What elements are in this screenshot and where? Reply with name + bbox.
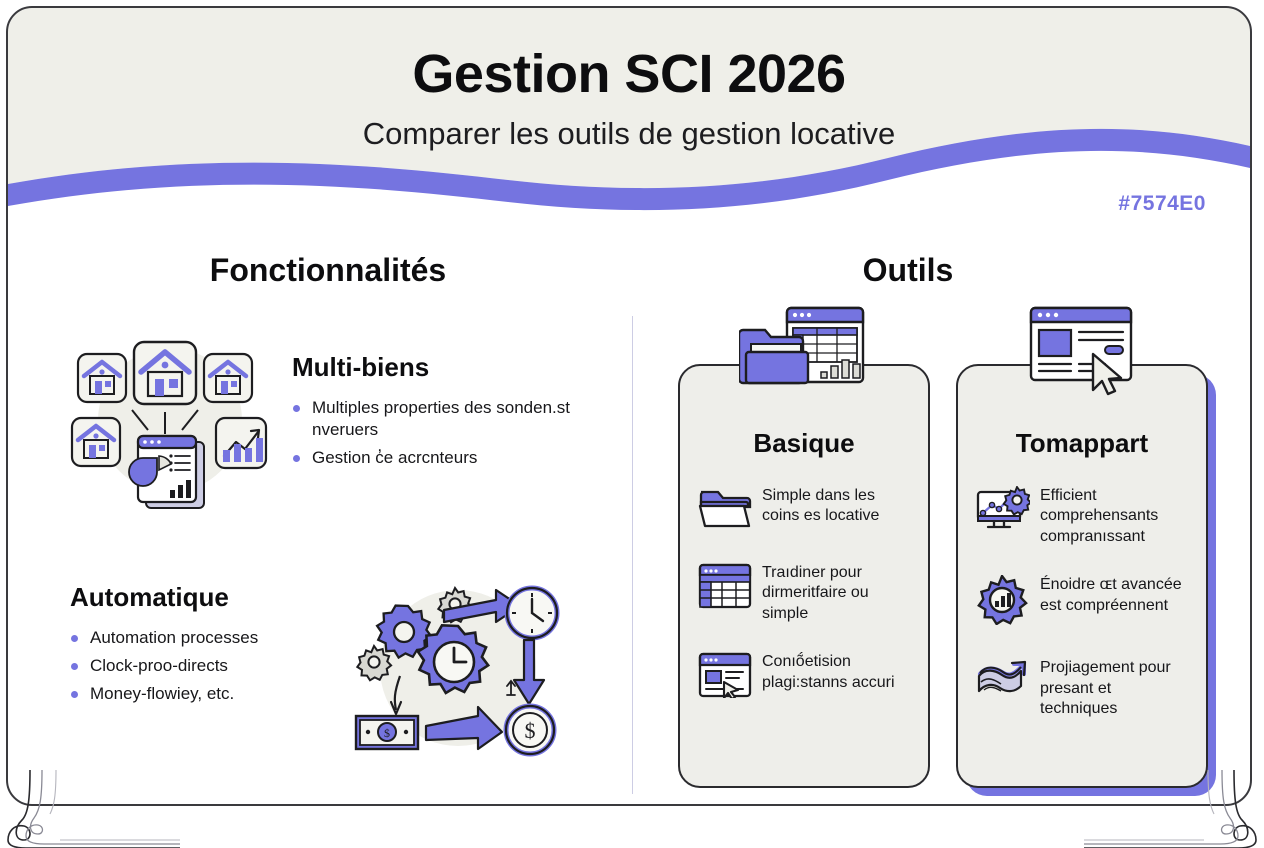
list-item: Simple dans les coins es locative bbox=[698, 484, 914, 535]
header-titles: Gestion SCI 2026 Comparer les outils de … bbox=[8, 8, 1250, 151]
list-item: Efficient comprehensants compranıssant bbox=[976, 484, 1192, 547]
feature-bullet-list: Multiples properties des sonden.st nveru… bbox=[292, 397, 610, 469]
gear-bar-chart-icon bbox=[976, 575, 1032, 630]
folder-spreadsheet-window-icon bbox=[739, 304, 869, 401]
infographic-canvas: Gestion SCI 2026 Comparer les outils de … bbox=[8, 8, 1250, 804]
feature-text-automatique: Automatique Automation processes Clock-p… bbox=[70, 568, 340, 711]
feature-title: Automatique bbox=[70, 582, 340, 613]
feature-text-multi-biens: Multi-biens Multiples properties des son… bbox=[292, 328, 610, 475]
list-item-label: Traıdiner pour dirmeritfaire ou simple bbox=[762, 561, 914, 624]
list-item: Conıṍetision plagi:stanns accuri bbox=[698, 650, 914, 703]
tool-card-tomappart[interactable]: Tomappart bbox=[956, 364, 1208, 788]
list-item: Traıdiner pour dirmeritfaire ou simple bbox=[698, 561, 914, 624]
infographic-body: Fonctionnalités Outils bbox=[8, 238, 1250, 804]
list-item-label: Projiagement pour presant et techniques bbox=[1040, 656, 1192, 719]
hex-color-label: #7574E0 bbox=[1118, 192, 1206, 216]
growth-arrow-map-icon bbox=[976, 658, 1032, 709]
houses-dashboard-cluster-icon bbox=[70, 332, 270, 517]
svg-text:$: $ bbox=[525, 718, 536, 743]
tool-card-title: Tomappart bbox=[958, 428, 1206, 459]
list-item: Automation processes bbox=[70, 627, 340, 649]
folder-icon bbox=[698, 486, 754, 535]
list-item: Énoidre ɶt avancée est compréennent bbox=[976, 573, 1192, 630]
column-divider bbox=[632, 316, 633, 794]
column-heading-tools: Outils bbox=[708, 252, 1108, 289]
list-item: Projiagement pour presant et techniques bbox=[976, 656, 1192, 719]
feature-block-automatique: Automatique Automation processes Clock-p… bbox=[70, 568, 610, 768]
list-item: Gestion c̓e acrcnteurs bbox=[292, 447, 610, 469]
list-item: Clock-proo-directs bbox=[70, 655, 340, 677]
column-heading-features: Fonctionnalités bbox=[128, 252, 528, 289]
gears-clock-money-automation-icon: $ $ bbox=[348, 568, 578, 768]
browser-window-cursor-icon bbox=[1027, 304, 1137, 401]
tool-feature-list: Efficient comprehensants compranıssant bbox=[976, 484, 1192, 746]
list-item: Multiples properties des sonden.st nveru… bbox=[292, 397, 610, 441]
list-item-label: Énoidre ɶt avancée est compréennent bbox=[1040, 573, 1192, 616]
infographic-stage: Gestion SCI 2026 Comparer les outils de … bbox=[0, 0, 1264, 848]
page-title: Gestion SCI 2026 bbox=[8, 8, 1250, 103]
feature-title: Multi-biens bbox=[292, 352, 610, 383]
tool-feature-list: Simple dans les coins es locative bbox=[698, 484, 914, 729]
monitor-analytics-gear-icon bbox=[976, 486, 1032, 537]
list-item: Money-flowiey, etc. bbox=[70, 683, 340, 705]
tool-cards: Basique Simple dans les coins es locativ bbox=[672, 326, 1232, 796]
list-item-label: Conıṍetision plagi:stanns accuri bbox=[762, 650, 914, 693]
tool-card-title: Basique bbox=[680, 428, 928, 459]
page-subtitle: Comparer les outils de gestion locative bbox=[8, 103, 1250, 151]
list-item-label: Efficient comprehensants compranıssant bbox=[1040, 484, 1192, 547]
feature-bullet-list: Automation processes Clock-proo-directs … bbox=[70, 627, 340, 705]
feature-block-multi-biens: Multi-biens Multiples properties des son… bbox=[70, 328, 610, 517]
svg-text:$: $ bbox=[384, 726, 390, 740]
browser-cursor-icon bbox=[698, 652, 754, 703]
list-item-label: Simple dans les coins es locative bbox=[762, 484, 914, 527]
spreadsheet-icon bbox=[698, 563, 754, 614]
tool-card-basique[interactable]: Basique Simple dans les coins es locativ bbox=[678, 364, 930, 788]
